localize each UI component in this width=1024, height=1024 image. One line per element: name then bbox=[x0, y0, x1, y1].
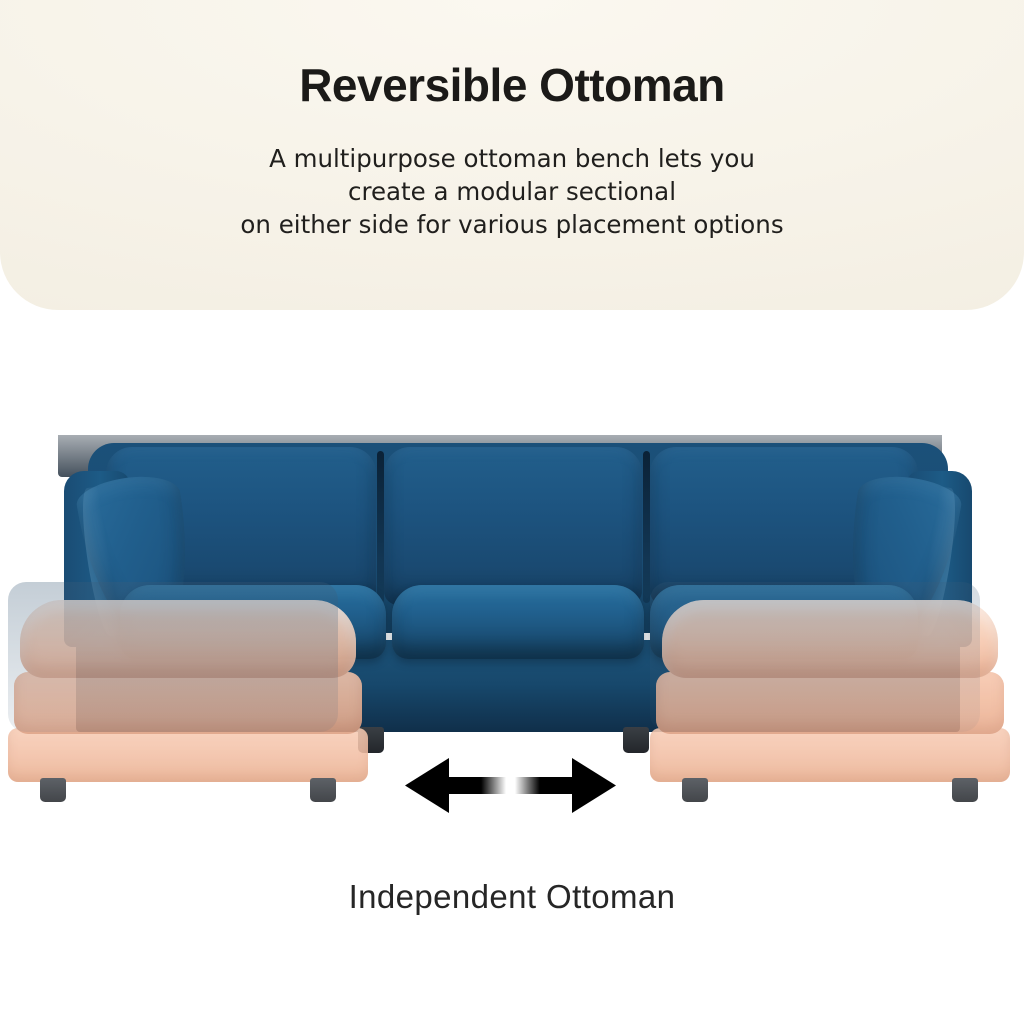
image-caption: Independent Ottoman bbox=[0, 878, 1024, 916]
ottoman-top-cushion bbox=[662, 600, 998, 678]
ottoman-top-cushion bbox=[20, 600, 356, 678]
ottoman-foot bbox=[952, 778, 978, 802]
subtitle-line-2: create a modular sectional bbox=[0, 175, 1024, 208]
ottoman-foot bbox=[682, 778, 708, 802]
ottoman-foot bbox=[310, 778, 336, 802]
ottoman-base bbox=[650, 728, 1010, 782]
ottoman-mid-band bbox=[14, 672, 362, 734]
sofa-foot bbox=[623, 727, 649, 753]
ottoman-mid-band bbox=[656, 672, 1004, 734]
ottoman-left bbox=[8, 600, 368, 800]
ottoman-foot bbox=[40, 778, 66, 802]
reversible-direction-indicator bbox=[403, 748, 618, 824]
cushion-seam bbox=[643, 451, 650, 603]
page-title: Reversible Ottoman bbox=[0, 58, 1024, 112]
sofa-back-cushion bbox=[384, 447, 642, 605]
double-arrow-icon bbox=[403, 748, 618, 824]
subtitle-line-1: A multipurpose ottoman bench lets you bbox=[0, 142, 1024, 175]
subtitle-block: A multipurpose ottoman bench lets you cr… bbox=[0, 142, 1024, 241]
subtitle-line-3: on either side for various placement opt… bbox=[0, 208, 1024, 241]
ottoman-base bbox=[8, 728, 368, 782]
ottoman-right bbox=[650, 600, 1010, 800]
sofa-seat-cushion bbox=[392, 585, 644, 659]
cushion-seam bbox=[377, 451, 384, 603]
header-panel: Reversible Ottoman A multipurpose ottoma… bbox=[0, 0, 1024, 310]
